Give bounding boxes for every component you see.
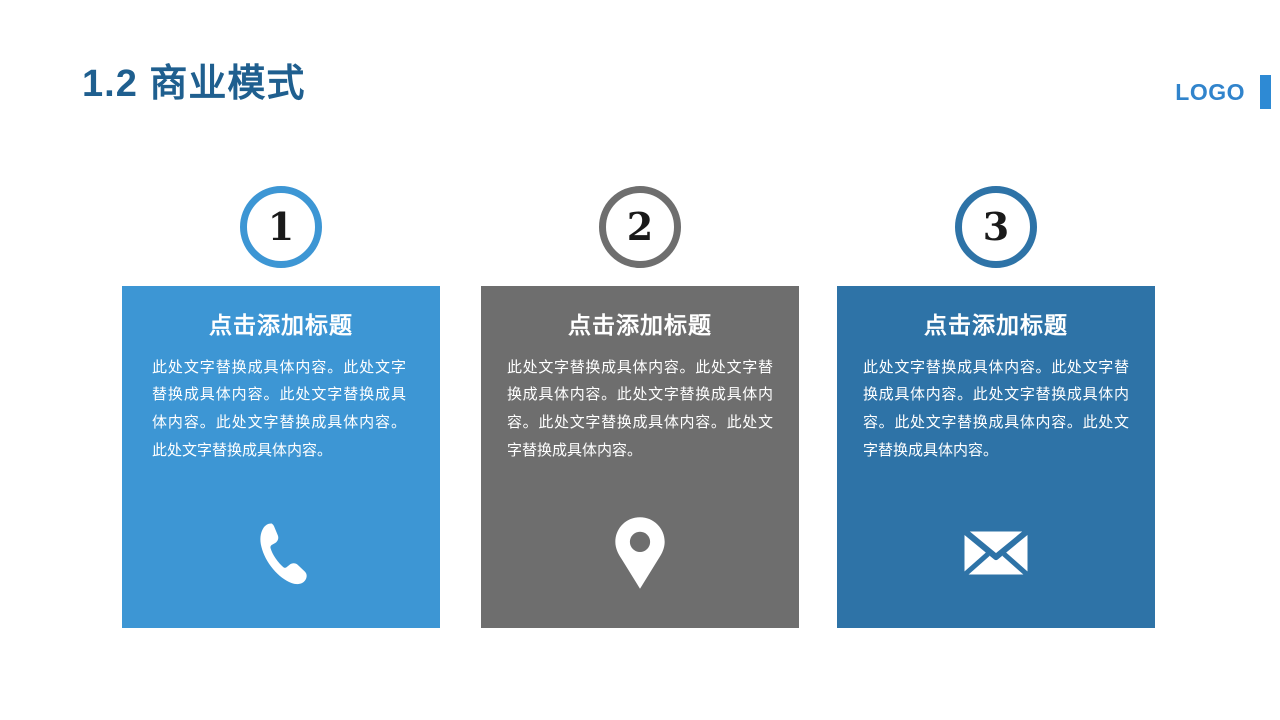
card-2[interactable]: 点击添加标题 此处文字替换成具体内容。此处文字替换成具体内容。此处文字替换成具体… [481, 286, 799, 628]
card-body-3: 此处文字替换成具体内容。此处文字替换成具体内容。此处文字替换成具体内容。此处文字… [859, 354, 1133, 465]
card-3[interactable]: 点击添加标题 此处文字替换成具体内容。此处文字替换成具体内容。此处文字替换成具体… [837, 286, 1155, 628]
phone-icon [246, 518, 316, 588]
card-title-3: 点击添加标题 [859, 312, 1133, 340]
step-number-badge-3: 3 [955, 186, 1037, 268]
icon-slot-1 [122, 514, 440, 592]
column-2: 2 点击添加标题 此处文字替换成具体内容。此处文字替换成具体内容。此处文字替换成… [481, 186, 799, 280]
icon-slot-2 [481, 514, 799, 592]
step-number-badge-1: 1 [240, 186, 322, 268]
map-pin-icon [609, 516, 671, 590]
column-3: 3 点击添加标题 此处文字替换成具体内容。此处文字替换成具体内容。此处文字替换成… [837, 186, 1155, 280]
envelope-icon [958, 525, 1034, 581]
card-body-1: 此处文字替换成具体内容。此处文字替换成具体内容。此处文字替换成具体内容。此处文字… [144, 354, 418, 465]
slide-canvas: 1.2 商业模式 LOGO 1 点击添加标题 此处文字替换成具体内容。此处文字替… [0, 0, 1280, 720]
circle-wrap-3: 3 [837, 186, 1155, 280]
content-columns: 1 点击添加标题 此处文字替换成具体内容。此处文字替换成具体内容。此处文字替换成… [0, 0, 1280, 720]
column-1: 1 点击添加标题 此处文字替换成具体内容。此处文字替换成具体内容。此处文字替换成… [122, 186, 440, 280]
card-title-1: 点击添加标题 [144, 312, 418, 340]
circle-wrap-2: 2 [481, 186, 799, 280]
card-title-2: 点击添加标题 [503, 312, 777, 340]
card-body-2: 此处文字替换成具体内容。此处文字替换成具体内容。此处文字替换成具体内容。此处文字… [503, 354, 777, 465]
circle-wrap-1: 1 [122, 186, 440, 280]
step-number-badge-2: 2 [599, 186, 681, 268]
card-1[interactable]: 点击添加标题 此处文字替换成具体内容。此处文字替换成具体内容。此处文字替换成具体… [122, 286, 440, 628]
icon-slot-3 [837, 514, 1155, 592]
